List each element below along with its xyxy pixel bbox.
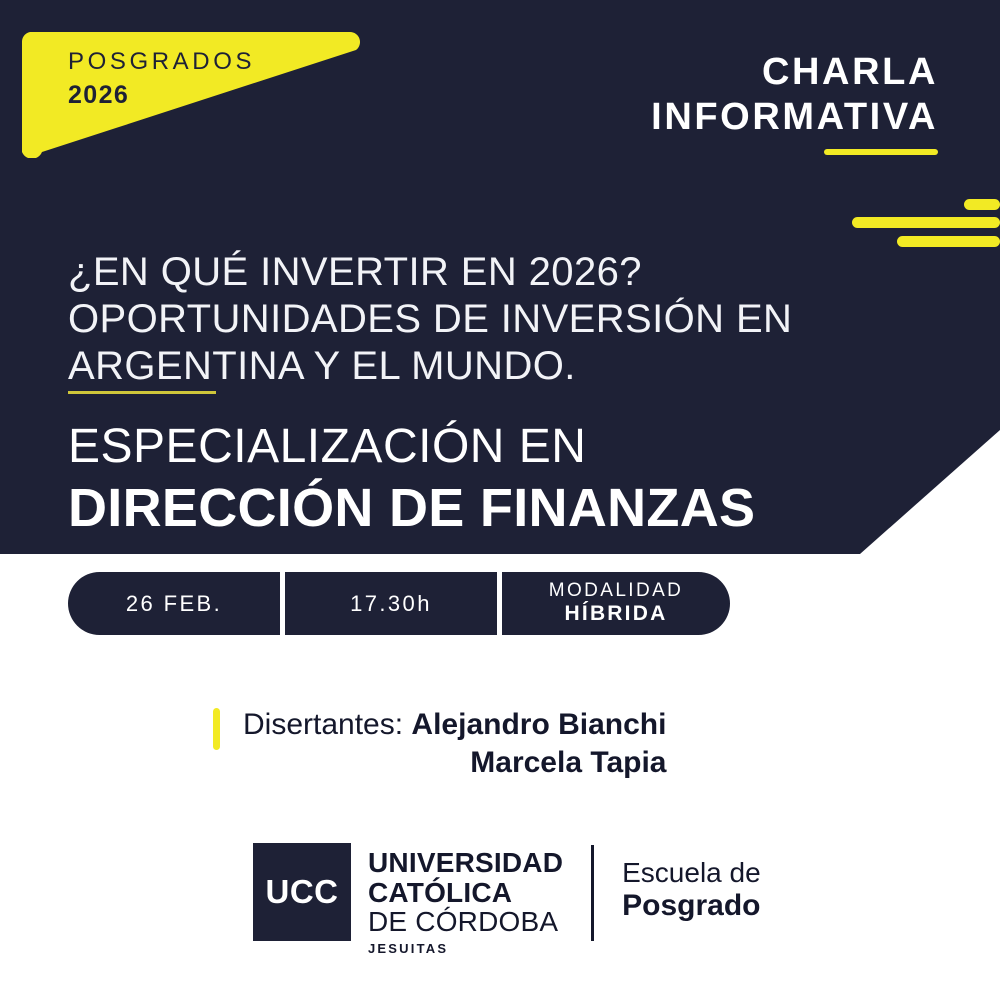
detail-time-segment: 17.30h (285, 572, 497, 635)
detail-modality-label: MODALIDAD (549, 580, 684, 602)
flag-line-posgrados: POSGRADOS (68, 50, 255, 74)
school-line-1: Escuela de (622, 857, 761, 889)
ucc-logo-mark: UCC (253, 843, 351, 941)
program-title-bold: DIRECCIÓN DE FINANZAS (68, 478, 755, 538)
poster-canvas: POSGRADOS 2026 CHARLA INFORMATIVA ¿EN QU… (0, 0, 1000, 1000)
ucc-word-universidad: UNIVERSIDAD (368, 848, 563, 878)
detail-date-segment: 26 FEB. (68, 572, 280, 635)
program-title-block: ESPECIALIZACIÓN EN DIRECCIÓN DE FINANZAS (68, 420, 755, 538)
headline-line-3: ARGENTINA Y EL MUNDO. (68, 343, 792, 390)
headline-block: ¿EN QUÉ INVERTIR EN 2026? OPORTUNIDADES … (68, 249, 792, 391)
decor-bar-1 (964, 199, 1000, 210)
speakers-line-1: Disertantes: Alejandro Bianchi (243, 706, 666, 744)
program-divider-rule (68, 391, 216, 394)
ucc-wordmark: UNIVERSIDAD CATÓLICA DE CÓRDOBA JESUITAS (368, 843, 563, 956)
detail-time-value: 17.30h (350, 591, 432, 617)
institution-logo-lockup: UCC UNIVERSIDAD CATÓLICA DE CÓRDOBA JESU… (253, 843, 761, 956)
decor-bar-3 (897, 236, 1000, 247)
event-type-line-2: INFORMATIVA (651, 95, 938, 140)
speakers-text: Disertantes: Alejandro Bianchi Marcela T… (243, 706, 666, 783)
headline-line-2: OPORTUNIDADES DE INVERSIÓN EN (68, 296, 792, 343)
event-type-block: CHARLA INFORMATIVA (651, 50, 938, 155)
speakers-label: Disertantes: (243, 708, 403, 741)
speaker-name-2: Marcela Tapia (243, 744, 666, 782)
school-line-2: Posgrado (622, 889, 761, 924)
program-title-light: ESPECIALIZACIÓN EN (68, 420, 755, 474)
ucc-word-de-cordoba: DE CÓRDOBA (368, 907, 563, 937)
detail-modality-segment: MODALIDAD HÍBRIDA (502, 572, 730, 635)
event-type-underline (824, 149, 938, 155)
speakers-block: Disertantes: Alejandro Bianchi Marcela T… (213, 706, 666, 783)
event-details-pillbar: 26 FEB. 17.30h MODALIDAD HÍBRIDA (68, 572, 730, 635)
event-type-line-1: CHARLA (651, 50, 938, 95)
decor-bar-2 (852, 217, 1000, 228)
ucc-word-catolica: CATÓLICA (368, 878, 563, 908)
posgrados-flag-text: POSGRADOS 2026 (68, 50, 255, 108)
detail-modality-value: HÍBRIDA (565, 602, 668, 627)
detail-date-value: 26 FEB. (126, 591, 222, 617)
school-name-block: Escuela de Posgrado (622, 843, 761, 924)
ucc-word-jesuitas: JESUITAS (368, 942, 563, 956)
speaker-name-1: Alejandro Bianchi (411, 708, 666, 741)
logo-divider (591, 845, 594, 941)
flag-line-year: 2026 (68, 83, 255, 108)
headline-line-1: ¿EN QUÉ INVERTIR EN 2026? (68, 249, 792, 296)
posgrados-flag: POSGRADOS 2026 (22, 20, 362, 158)
speakers-accent-tick (213, 708, 220, 750)
